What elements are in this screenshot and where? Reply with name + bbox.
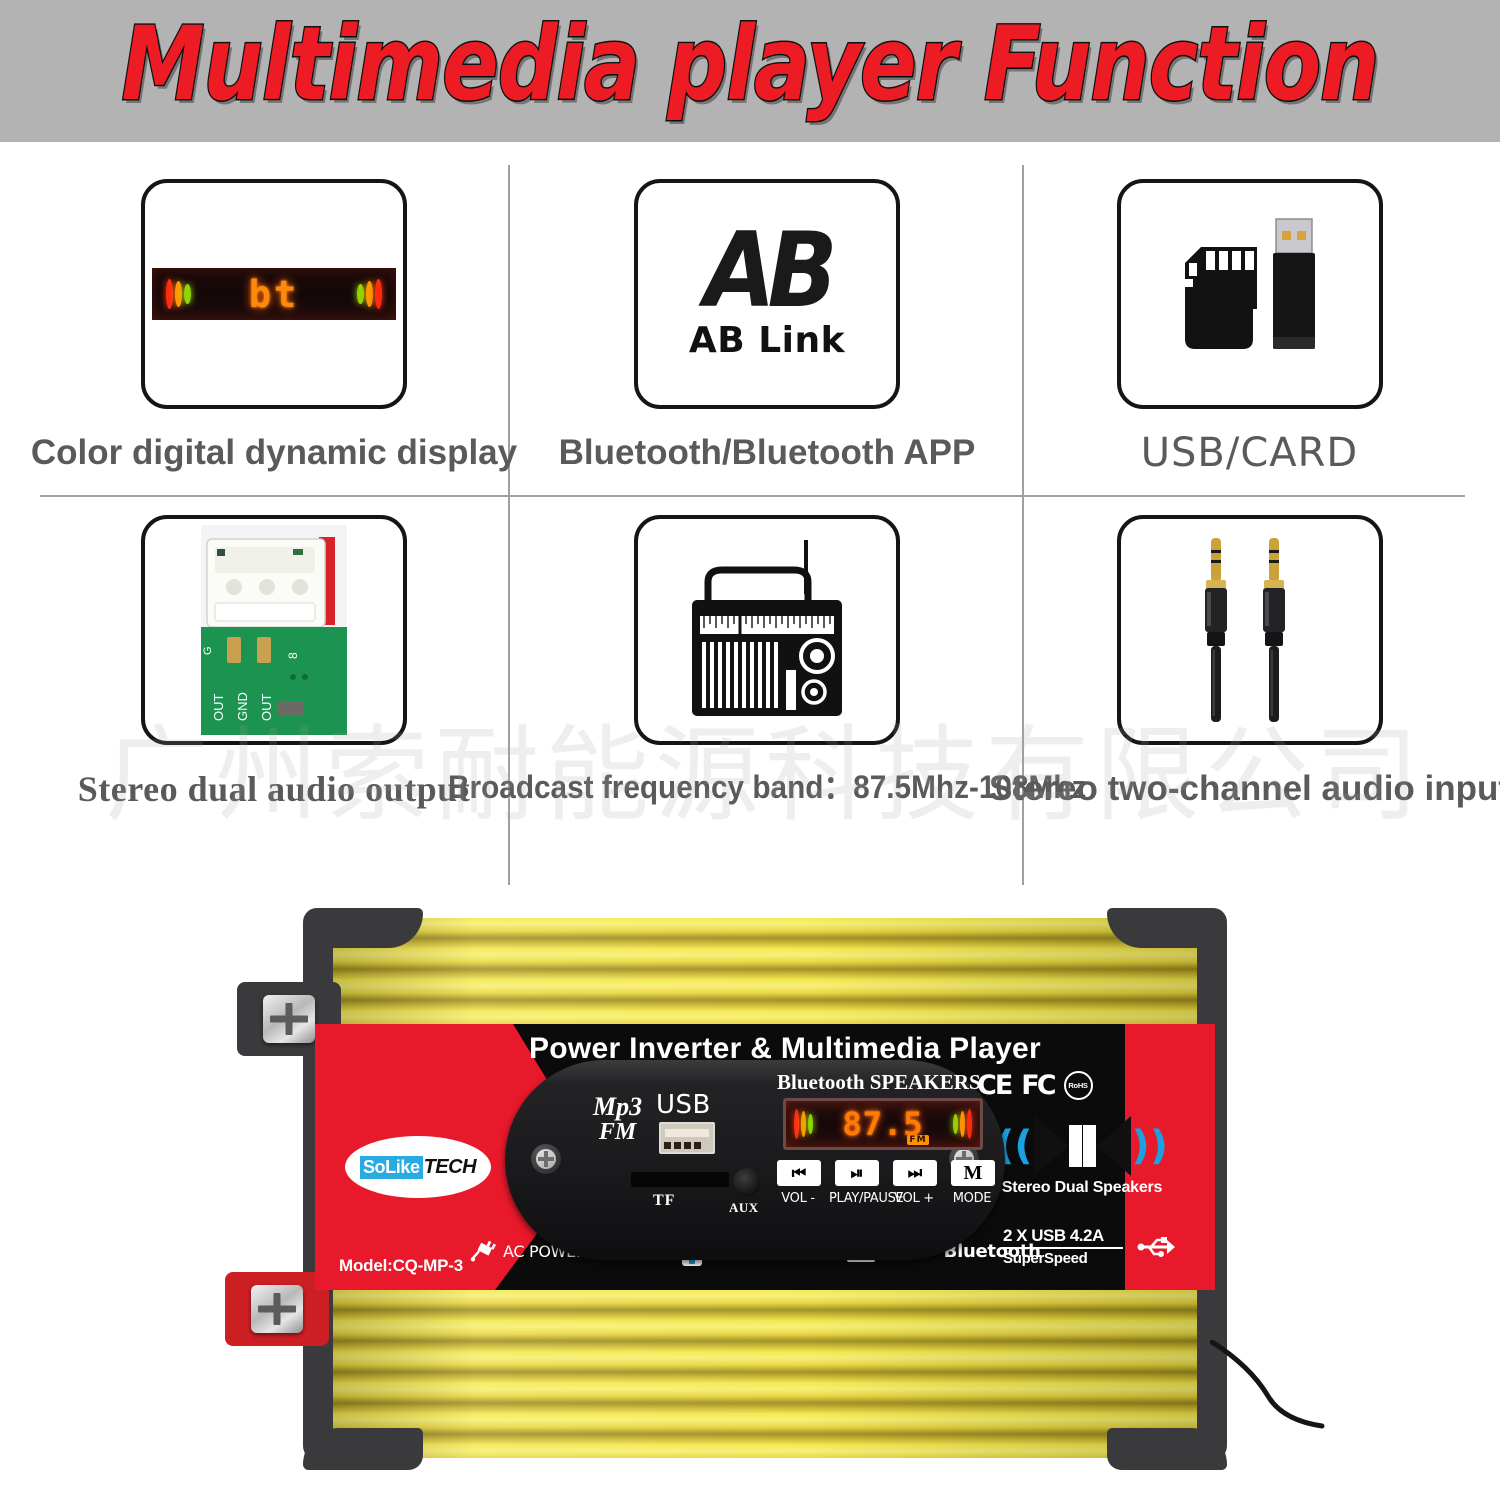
feature-caption-stereo-audio-input: Stereo two-channel audio input [989,771,1500,806]
fm-label: FM [593,1120,642,1144]
lcd-display: 87.5 FM [783,1098,983,1150]
plug-icon [470,1240,496,1262]
certification-marks: CE FC RoHS [977,1070,1093,1101]
aux-cable-icon [1117,515,1383,745]
ab-link-icon: AB AB Link [634,179,900,409]
svg-text:OUT: OUT [211,694,226,722]
corner-bumper-top-left [303,908,423,948]
button-vol-up[interactable]: ⏭ [893,1160,937,1186]
terminal-screw-positive [251,1285,303,1333]
feature-caption-usb-card: USB/CARD [1141,433,1358,473]
rohs-mark-label: RoHS [1068,1081,1087,1090]
cone-left [1034,1116,1068,1176]
stereo-dual-speakers-badge: (( )) Stereo Dual Speakers [987,1116,1177,1197]
grid-divider-horizontal [40,495,1465,497]
usb-port[interactable] [659,1122,715,1154]
led-strip: bt [152,268,396,320]
button-label-vol-up: VOL + [887,1191,941,1206]
feature-card-bluetooth-app[interactable]: AB AB Link Bluetooth/Bluetooth APP [520,179,1014,470]
radio-icon [634,515,900,745]
feature-caption-bluetooth-app: Bluetooth/Bluetooth APP [559,435,976,470]
button-play-pause[interactable]: ⏯ [835,1160,879,1186]
brand-logo: SoLikeTECH [345,1136,491,1198]
feature-card-usb-card[interactable]: USB/CARD [1034,179,1465,473]
led-display-icon: bt [141,179,407,409]
button-label-vol-down: VOL - [771,1191,825,1206]
lcd-vu-right [953,1109,972,1139]
sound-wave-right-icon: )) [1132,1132,1169,1160]
rohs-mark-icon: RoHS [1064,1071,1093,1100]
product-model-text: Model:CQ-MP-3 [339,1256,463,1276]
led-display-text: bt [249,273,300,316]
feature-caption-stereo-dual-output: Stereo dual audio output [78,771,470,807]
corner-bumper-bottom-left [303,1428,423,1470]
corner-bumper-bottom-right [1107,1428,1227,1470]
corner-bumper-top-right [1107,908,1227,948]
feature-caption-color-digital-display: Color digital dynamic display [31,435,517,470]
svg-text:OUT: OUT [259,694,274,722]
cone-bar-right [1083,1125,1096,1167]
mp3-module: Mp3 FM USB TF AUX Bluetooth SPEAKERS 87.… [505,1060,1005,1260]
button-mode[interactable]: M [951,1160,995,1186]
terminal-positive[interactable] [225,1272,329,1346]
cone-right [1097,1116,1131,1176]
feature-card-color-digital-display[interactable]: bt Color digital dynamic display [40,179,508,470]
svg-text:GND: GND [235,692,250,721]
ab-logo-mark: AB [704,222,829,320]
button-label-play-pause: PLAY/PAUSE [829,1191,883,1206]
bluetooth-speakers-title: Bluetooth SPEAKERS [777,1070,981,1095]
stereo-dual-speakers-label: Stereo Dual Speakers [1002,1179,1163,1197]
usb-port-label: USB [656,1090,711,1120]
button-vol-down[interactable]: ⏮ [777,1160,821,1186]
lcd-vu-left [794,1109,813,1139]
transport-button-labels: VOL - PLAY/PAUSE VOL + MODE [771,1191,999,1206]
product-image: Power Inverter & Multimedia Player SoLik… [255,900,1265,1475]
aux-jack-label: AUX [729,1200,759,1216]
aux-jack[interactable] [733,1168,761,1196]
mp3-fm-label: Mp3 FM [593,1094,642,1144]
svg-text:G: G [202,646,214,655]
brand-logo-suffix: TECH [424,1156,476,1179]
pcb-connector-icon: G 8 OUT GND OUT [141,515,407,745]
mp3-label: Mp3 [593,1094,642,1120]
fcc-mark-icon: FC [1021,1070,1053,1101]
module-screw-left [531,1144,561,1174]
usb-sdcard-icon [1117,179,1383,409]
feature-card-stereo-dual-output[interactable]: G 8 OUT GND OUT Stereo dual audio output [40,515,508,807]
feature-card-stereo-audio-input[interactable]: Stereo two-channel audio input [1034,515,1465,806]
vu-meter-left [166,279,191,309]
feature-grid: bt Color digital dynamic display AB AB L… [40,165,1465,885]
usb-trident-icon [1137,1236,1177,1258]
page-title: Multimedia player Function [23,6,1478,124]
product-label-panel: Power Inverter & Multimedia Player SoLik… [315,1024,1215,1290]
vu-meter-right [357,279,382,309]
svg-text:8: 8 [286,652,300,659]
cone-bar-left [1069,1125,1082,1167]
transport-buttons: ⏮ ⏯ ⏭ M [777,1160,995,1186]
button-label-mode: MODE [945,1191,999,1206]
lcd-frequency-value: 87.5 FM [842,1105,923,1143]
brand-logo-prefix: SoLike [360,1156,423,1179]
power-cord [1210,1340,1330,1430]
speaker-cone-icon: (( )) [996,1116,1168,1176]
tf-card-slot[interactable] [631,1172,729,1187]
lcd-mode-badge: FM [907,1135,928,1145]
terminal-screw-negative [263,995,315,1043]
feature-card-broadcast-band[interactable]: Broadcast frequency band：87.5Mhz-108Mhz [520,515,1014,803]
tf-slot-label: TF [653,1192,675,1210]
